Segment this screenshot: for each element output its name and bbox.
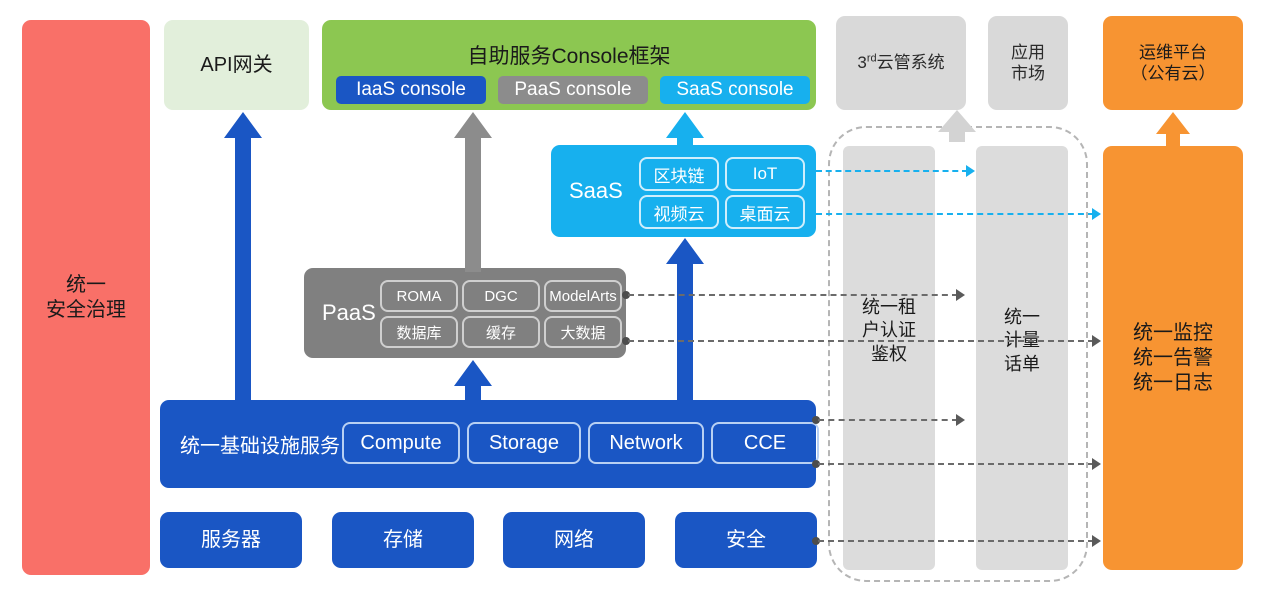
paas-service-roma-label: ROMA — [397, 288, 442, 305]
paas-service-cache-label: 缓存 — [486, 322, 516, 343]
shared-column-metering-line1: 统一 — [976, 306, 1068, 329]
architecture-diagram: 统一 安全治理 API网关 自助服务Console框架 IaaS console… — [0, 0, 1265, 605]
saas-service-iot-label: IoT — [753, 164, 778, 184]
hardware-item-storage-label: 存储 — [383, 528, 423, 553]
arrow-infra-to-saas — [664, 238, 706, 403]
shared-column-auth-line1: 统一租 — [843, 296, 935, 319]
security-governance-line2: 安全治理 — [46, 298, 126, 323]
app-market-line1: 应用 — [1011, 42, 1045, 63]
arrowhead-infra-to-auth — [956, 414, 965, 426]
api-gateway-box: API网关 — [164, 20, 309, 110]
infra-service-storage-label: Storage — [489, 432, 559, 455]
arrow-to-ops-platform — [1152, 112, 1194, 146]
paas-service-cache[interactable]: 缓存 — [462, 316, 540, 348]
paas-service-database-label: 数据库 — [396, 322, 441, 343]
infra-service-compute-label: Compute — [360, 432, 441, 455]
arrowhead-paas-to-ops — [1092, 335, 1101, 347]
shared-column-auth-label: 统一租 户认证 鉴权 — [843, 296, 935, 366]
infra-service-storage[interactable]: Storage — [467, 422, 581, 464]
security-governance-panel: 统一 安全治理 — [22, 20, 150, 575]
infra-service-cce-label: CCE — [744, 432, 786, 455]
paas-service-modelarts-label: ModelArts — [549, 288, 617, 305]
hardware-item-network[interactable]: 网络 — [503, 512, 645, 568]
third-party-cloud-prefix: 3 — [857, 53, 866, 72]
hardware-item-server[interactable]: 服务器 — [160, 512, 302, 568]
shared-column-metering-line3: 话单 — [976, 353, 1068, 376]
arrow-saas-to-console — [664, 112, 706, 150]
console-framework-box: 自助服务Console框架 IaaS console PaaS console … — [322, 20, 816, 110]
saas-service-video-cloud-label: 视频云 — [654, 200, 705, 225]
dashed-line-infra-to-ops — [818, 463, 1094, 465]
saas-box: SaaS 区块链 IoT 视频云 桌面云 — [551, 145, 816, 237]
shared-column-metering: 统一 计量 话单 — [976, 146, 1068, 570]
dashed-line-infra-to-auth — [818, 419, 958, 421]
hardware-item-security-label: 安全 — [726, 528, 766, 553]
infra-service-cce[interactable]: CCE — [711, 422, 819, 464]
paas-service-modelarts[interactable]: ModelArts — [544, 280, 622, 312]
hardware-item-storage[interactable]: 存储 — [332, 512, 474, 568]
arrowhead-infra-to-ops — [1092, 458, 1101, 470]
console-chip-iaas-label: IaaS console — [356, 78, 466, 102]
ops-platform-top-line1: 运维平台 — [1131, 42, 1216, 63]
saas-service-blockchain-label: 区块链 — [654, 162, 705, 187]
ops-platform-side-line3: 统一日志 — [1133, 371, 1213, 396]
dashed-line-paas-to-auth — [628, 294, 958, 296]
arrow-paas-to-console — [452, 112, 494, 272]
arrowhead-saas-to-metering — [966, 165, 975, 177]
third-party-cloud-suffix: 云管系统 — [877, 53, 945, 72]
arrow-shared-to-third-party-cloud — [936, 110, 978, 142]
dashed-line-saas-to-metering — [816, 170, 968, 172]
infra-service-network[interactable]: Network — [588, 422, 704, 464]
ops-platform-side-line1: 统一监控 — [1133, 321, 1213, 346]
paas-service-dgc-label: DGC — [484, 288, 517, 305]
infra-service-network-label: Network — [609, 432, 682, 455]
app-market-box: 应用 市场 — [988, 16, 1068, 110]
arrowhead-paas-to-auth — [956, 289, 965, 301]
console-chip-saas[interactable]: SaaS console — [660, 76, 810, 104]
console-chip-saas-label: SaaS console — [676, 78, 793, 102]
paas-box: PaaS ROMA DGC ModelArts 数据库 缓存 大数据 — [304, 268, 626, 358]
ops-platform-top-line2: （公有云） — [1131, 63, 1216, 84]
paas-service-bigdata[interactable]: 大数据 — [544, 316, 622, 348]
ops-platform-top-box: 运维平台 （公有云） — [1103, 16, 1243, 110]
paas-service-dgc[interactable]: DGC — [462, 280, 540, 312]
console-chip-paas-label: PaaS console — [514, 78, 631, 102]
dashed-line-hardware-to-ops — [818, 540, 1094, 542]
hardware-item-security[interactable]: 安全 — [675, 512, 817, 568]
paas-label: PaaS — [322, 300, 376, 326]
paas-service-database[interactable]: 数据库 — [380, 316, 458, 348]
hardware-item-network-label: 网络 — [554, 528, 594, 553]
console-chip-iaas[interactable]: IaaS console — [336, 76, 486, 104]
paas-service-bigdata-label: 大数据 — [560, 322, 605, 343]
ops-platform-side-panel: 统一监控 统一告警 统一日志 — [1103, 146, 1243, 570]
hardware-item-server-label: 服务器 — [201, 528, 261, 553]
api-gateway-label: API网关 — [200, 53, 272, 78]
saas-service-desktop-cloud[interactable]: 桌面云 — [725, 195, 805, 229]
arrowhead-hardware-to-ops — [1092, 535, 1101, 547]
ops-platform-side-line2: 统一告警 — [1133, 346, 1213, 371]
dashed-line-saas-to-ops — [816, 213, 1094, 215]
third-party-cloud-sup: rd — [867, 53, 877, 65]
console-framework-title: 自助服务Console框架 — [322, 44, 816, 70]
app-market-line2: 市场 — [1011, 63, 1045, 84]
saas-service-blockchain[interactable]: 区块链 — [639, 157, 719, 191]
console-chip-paas[interactable]: PaaS console — [498, 76, 648, 104]
dashed-line-paas-to-ops — [628, 340, 1094, 342]
infra-service-compute[interactable]: Compute — [342, 422, 460, 464]
saas-service-iot[interactable]: IoT — [725, 157, 805, 191]
arrow-infra-to-api-gateway — [222, 112, 264, 404]
third-party-cloud-box: 3rd云管系统 — [836, 16, 966, 110]
paas-service-roma[interactable]: ROMA — [380, 280, 458, 312]
infrastructure-label: 统一基础设施服务 — [180, 430, 340, 459]
security-governance-line1: 统一 — [46, 273, 126, 298]
arrow-infra-to-paas — [452, 360, 494, 404]
saas-service-desktop-cloud-label: 桌面云 — [740, 200, 791, 225]
shared-column-auth-line3: 鉴权 — [843, 343, 935, 366]
infrastructure-bar: 统一基础设施服务 Compute Storage Network CCE — [160, 400, 816, 488]
arrowhead-saas-to-ops — [1092, 208, 1101, 220]
shared-column-auth: 统一租 户认证 鉴权 — [843, 146, 935, 570]
saas-service-video-cloud[interactable]: 视频云 — [639, 195, 719, 229]
saas-label: SaaS — [569, 178, 623, 204]
